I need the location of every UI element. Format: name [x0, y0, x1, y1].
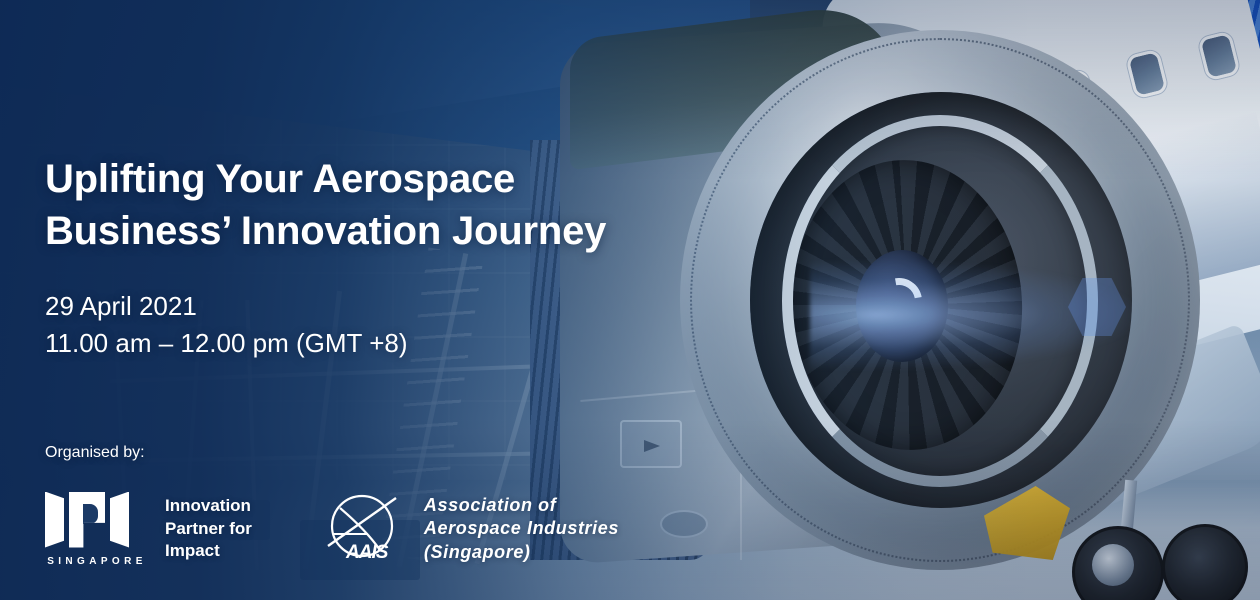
ipi-tagline: Innovation Partner for Impact [165, 495, 252, 562]
aais-tagline-line-1: Association of [424, 494, 619, 517]
title-line-1: Uplifting Your Aerospace [45, 153, 606, 205]
ipi-singapore-label: SINGAPORE [45, 556, 149, 567]
ipi-tagline-line-2: Partner for [165, 518, 252, 540]
aais-tagline-line-3: (Singapore) [424, 541, 619, 564]
organised-by-label: Organised by: [45, 444, 145, 462]
ipi-tagline-line-3: Impact [165, 540, 252, 562]
aais-tagline-line-2: Aerospace Industries [424, 517, 619, 540]
event-time: 11.00 am – 12.00 pm (GMT +8) [45, 325, 408, 362]
svg-text:AAIS: AAIS [345, 542, 389, 563]
ipi-logo-mark: SINGAPORE [45, 492, 149, 567]
organiser-logos: SINGAPORE Innovation Partner for Impact [45, 490, 619, 568]
ipi-letter-i-left [45, 492, 64, 548]
ipi-letterforms-icon [45, 492, 149, 548]
ipi-letter-p [69, 492, 105, 548]
event-date: 29 April 2021 [45, 288, 408, 325]
aais-tagline: Association of Aerospace Industries (Sin… [424, 494, 619, 564]
ipi-logo[interactable]: SINGAPORE Innovation Partner for Impact [45, 492, 252, 567]
page-title: Uplifting Your Aerospace Business’ Innov… [45, 153, 606, 257]
ipi-letter-i-right [110, 492, 129, 548]
title-line-2: Business’ Innovation Journey [45, 205, 606, 257]
aais-logo-mark: AAIS [322, 490, 410, 568]
event-datetime: 29 April 2021 11.00 am – 12.00 pm (GMT +… [45, 288, 408, 362]
event-banner: Uplifting Your Aerospace Business’ Innov… [0, 0, 1260, 600]
banner-content: Uplifting Your Aerospace Business’ Innov… [0, 0, 1260, 600]
ipi-letter-p-counter [83, 504, 98, 524]
aais-logo[interactable]: AAIS Association of Aerospace Industries… [322, 490, 619, 568]
ipi-tagline-line-1: Innovation [165, 495, 252, 517]
aais-globe-swoosh-icon: AAIS [322, 490, 410, 568]
